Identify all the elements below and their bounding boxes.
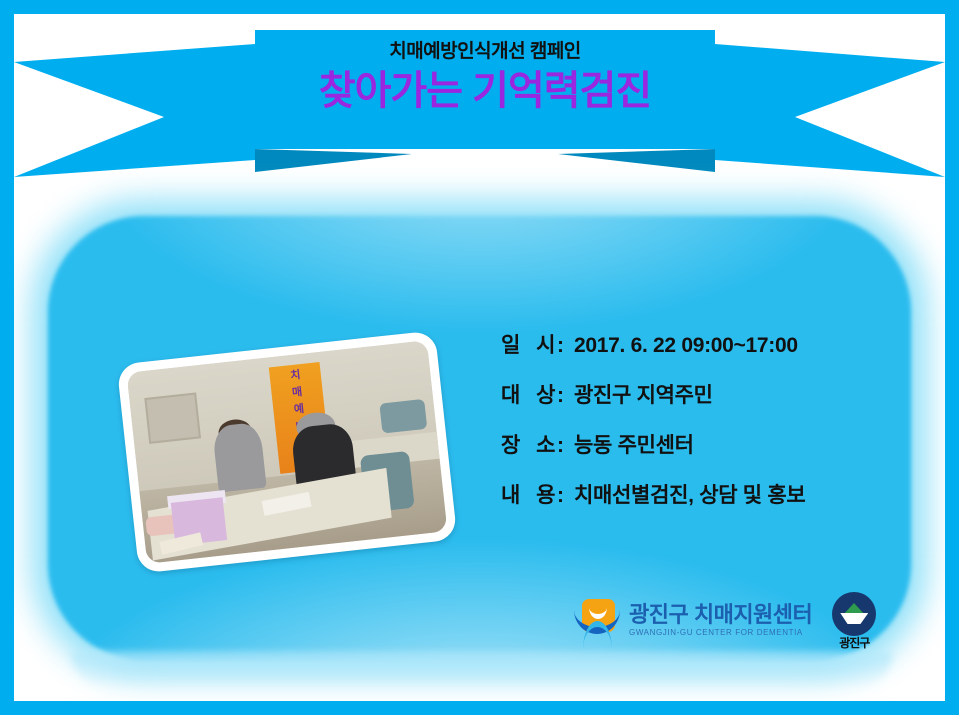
event-photo-frame: 치 매 예 방 검 [117, 330, 458, 573]
banner-title: 찾아가는 기억력검진 [319, 70, 651, 112]
logo-text-block: 광진구 치매지원센터 GWANGJIN-GU CENTER FOR DEMENT… [629, 603, 812, 637]
ribbon-banner: 치매예방인식개선 캠페인 찾아가는 기억력검진 [14, 14, 945, 189]
photo-banner-char-0: 치 [269, 368, 321, 384]
banner-subtitle: 치매예방인식개선 캠페인 [389, 42, 581, 61]
banner-text-block: 치매예방인식개선 캠페인 찾아가는 기억력검진 [255, 30, 715, 149]
poster-root: 치매예방인식개선 캠페인 찾아가는 기억력검진 치 매 예 방 검 [0, 0, 959, 715]
info-value-content: 치매선별검진, 상담 및 홍보 [574, 479, 805, 509]
photo-banner-char-1: 매 [271, 385, 323, 401]
info-row-content: 내 용 : 치매선별검진, 상담 및 홍보 [501, 479, 901, 509]
info-label-audience: 대 상 [501, 379, 553, 409]
info-colon-datetime: : [557, 334, 564, 358]
emblem-white-wave [840, 613, 868, 624]
info-row-venue: 장 소 : 능동 주민센터 [501, 429, 901, 459]
info-label-venue: 장 소 [501, 429, 553, 459]
emblem-mountain-shape [840, 603, 868, 625]
info-label-content: 내 용 [501, 479, 553, 509]
info-row-datetime: 일 시 : 2017. 6. 22 09:00~17:00 [501, 329, 901, 359]
logo-bar: 광진구 치매지원센터 GWANGJIN-GU CENTER FOR DEMENT… [574, 592, 880, 648]
emblem-label: 광진구 [828, 634, 880, 651]
logo-name-korean: 광진구 치매지원센터 [629, 603, 812, 626]
event-photo: 치 매 예 방 검 [127, 340, 448, 563]
panel-reflection [72, 652, 892, 688]
gwangjin-gu-emblem-icon: 광진구 [828, 592, 880, 648]
info-label-datetime: 일 시 [501, 329, 553, 359]
poster-inner: 치매예방인식개선 캠페인 찾아가는 기억력검진 치 매 예 방 검 [14, 14, 945, 701]
info-value-audience: 광진구 지역주민 [574, 379, 713, 409]
info-colon-audience: : [557, 384, 564, 408]
info-value-datetime: 2017. 6. 22 09:00~17:00 [574, 334, 798, 358]
event-info-list: 일 시 : 2017. 6. 22 09:00~17:00 대 상 : 광진구 … [501, 329, 901, 529]
photo-wall-vent [144, 392, 201, 444]
logo-name-english: GWANGJIN-GU CENTER FOR DEMENTIA [629, 628, 812, 637]
info-colon-venue: : [557, 434, 564, 458]
dementia-center-logo-icon [574, 597, 620, 643]
info-value-venue: 능동 주민센터 [574, 429, 694, 459]
info-colon-content: : [557, 484, 564, 508]
emblem-circle [832, 592, 876, 636]
photo-stacked-chairs [379, 398, 427, 433]
info-row-audience: 대 상 : 광진구 지역주민 [501, 379, 901, 409]
